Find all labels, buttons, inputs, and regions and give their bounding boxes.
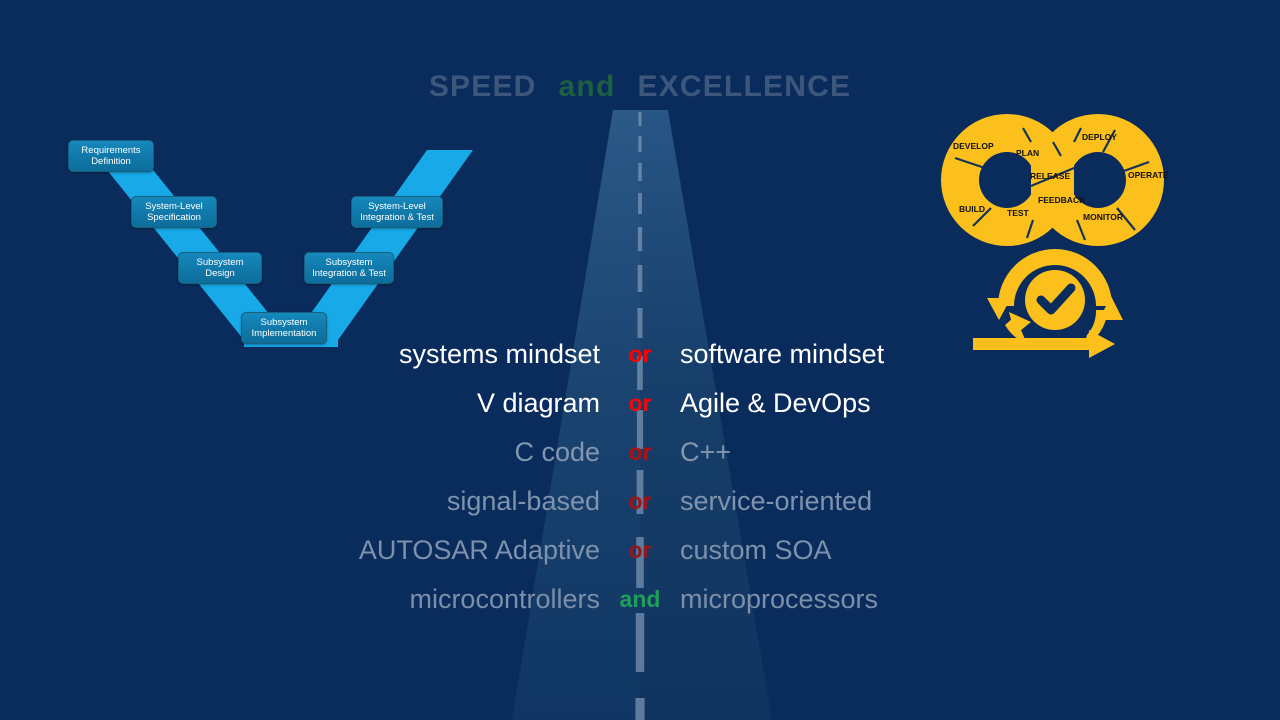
title-conjunction: and (559, 70, 616, 103)
v-box-line2: Specification (147, 212, 201, 223)
comparison-row: microcontrollers and microprocessors (0, 575, 1280, 624)
row-conjunction: or (600, 341, 680, 368)
row-left-term: systems mindset (0, 339, 600, 370)
row-conjunction: or (600, 390, 680, 417)
row-conjunction: or (600, 537, 680, 564)
row-right-term: service-oriented (680, 486, 1280, 517)
devops-stage-plan: PLAN (1016, 148, 1039, 158)
comparison-rows: systems mindset or software mindset V di… (0, 330, 1280, 624)
comparison-row: systems mindset or software mindset (0, 330, 1280, 379)
v-box-subsystem-design[interactable]: Subsystem Design (178, 252, 262, 284)
v-box-line1: System-Level (145, 201, 203, 212)
v-box-subsystem-integration-test[interactable]: Subsystem Integration & Test (304, 252, 394, 284)
v-box-line2: Definition (91, 156, 131, 167)
devops-stage-operate: OPERATE (1128, 170, 1169, 180)
v-box-line1: Subsystem (325, 257, 372, 268)
v-model-diagram: Requirements Definition System-Level Spe… (55, 125, 485, 365)
row-conjunction: and (600, 586, 680, 613)
v-box-line2: Design (205, 268, 235, 279)
v-box-system-level-integration-test[interactable]: System-Level Integration & Test (351, 196, 443, 228)
v-box-line1: Requirements (81, 145, 140, 156)
devops-stage-test: TEST (1007, 208, 1030, 218)
v-box-line2: Integration & Test (312, 268, 386, 279)
row-right-term: software mindset (680, 339, 1280, 370)
row-conjunction: or (600, 439, 680, 466)
row-right-term: custom SOA (680, 535, 1280, 566)
devops-stage-deploy: DEPLOY (1082, 132, 1117, 142)
row-conjunction: or (600, 488, 680, 515)
comparison-row: C code or C++ (0, 428, 1280, 477)
devops-stage-develop: DEVELOP (953, 141, 994, 151)
comparison-row: signal-based or service-oriented (0, 477, 1280, 526)
comparison-row: V diagram or Agile & DevOps (0, 379, 1280, 428)
row-left-term: AUTOSAR Adaptive (0, 535, 600, 566)
row-left-term: signal-based (0, 486, 600, 517)
devops-stage-build: BUILD (959, 204, 985, 214)
row-left-term: C code (0, 437, 600, 468)
slide-title: SPEEDandEXCELLENCE (0, 70, 1280, 104)
devops-stage-release: RELEASE (1030, 171, 1070, 181)
row-right-term: microprocessors (680, 584, 1280, 615)
slide-canvas: SPEEDandEXCELLENCE Requirements Definiti… (0, 0, 1280, 720)
v-box-requirements-definition[interactable]: Requirements Definition (68, 140, 154, 172)
devops-infinity-loop: DEVELOP PLAN RELEASE DEPLOY OPERATE FEED… (935, 108, 1170, 253)
devops-stage-monitor: MONITOR (1083, 212, 1123, 222)
v-box-system-level-specification[interactable]: System-Level Specification (131, 196, 217, 228)
v-box-line1: Subsystem (260, 317, 307, 328)
title-word-speed: SPEED (429, 70, 537, 103)
row-right-term: C++ (680, 437, 1280, 468)
v-box-line1: System-Level (368, 201, 426, 212)
comparison-row: AUTOSAR Adaptive or custom SOA (0, 526, 1280, 575)
row-right-term: Agile & DevOps (680, 388, 1280, 419)
row-left-term: microcontrollers (0, 584, 600, 615)
devops-stage-feedback: FEEDBACK (1038, 195, 1086, 205)
v-box-line1: Subsystem (197, 257, 244, 268)
row-left-term: V diagram (0, 388, 600, 419)
v-box-line2: Integration & Test (360, 212, 434, 223)
title-word-excellence: EXCELLENCE (637, 70, 851, 103)
